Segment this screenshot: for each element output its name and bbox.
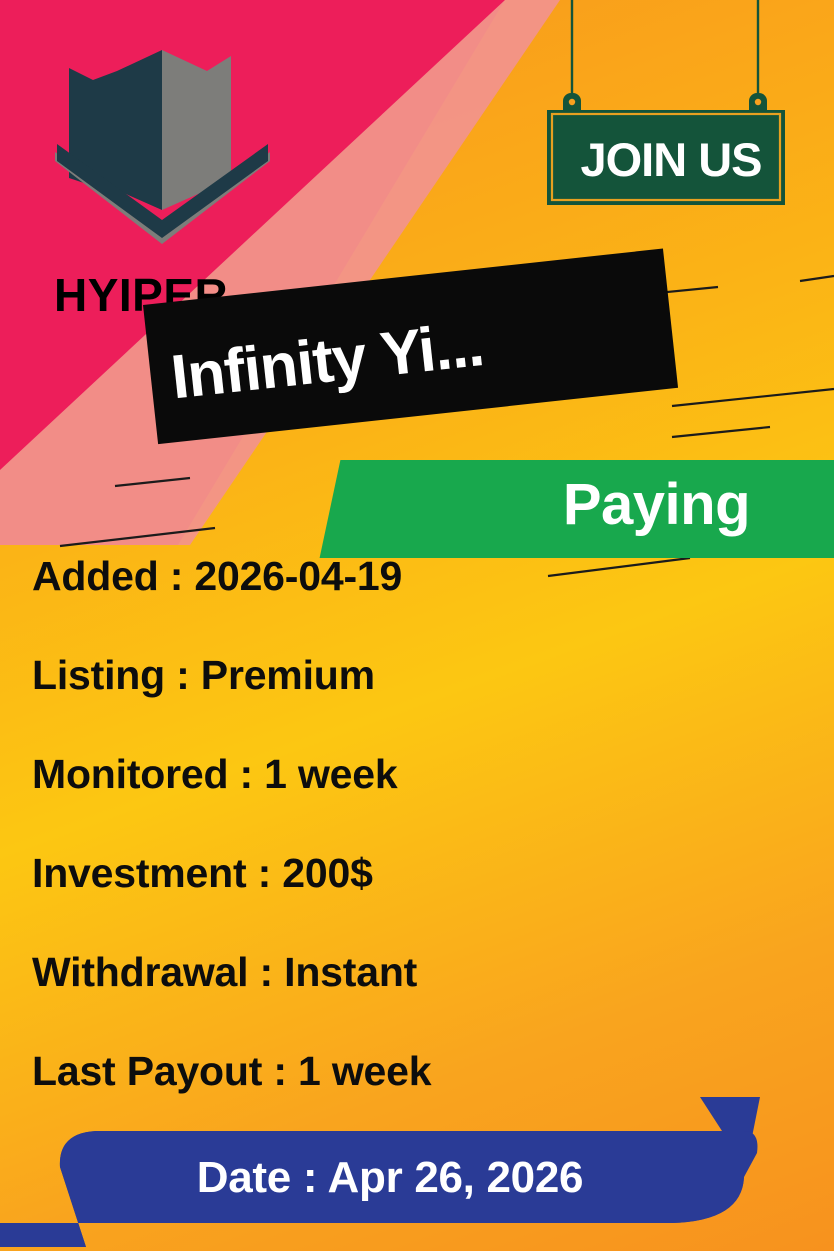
hyip-listing-card: HYIPER JOIN US Infinity Yi... Paying Add… xyxy=(0,0,834,1251)
detail-row-monitored: Monitored : 1 week xyxy=(32,754,732,795)
brand-block: HYIPER xyxy=(0,0,300,330)
detail-row-investment: Investment : 200$ xyxy=(32,853,732,894)
detail-row-last-payout: Last Payout : 1 week xyxy=(32,1051,732,1092)
join-us-label[interactable]: JOIN US xyxy=(546,136,796,183)
buildings-chevron-logo-icon xyxy=(55,28,270,253)
date-label: Date : Apr 26, 2026 xyxy=(70,1153,710,1203)
join-us-sign[interactable] xyxy=(520,0,820,225)
detail-row-withdrawal: Withdrawal : Instant xyxy=(32,952,732,993)
detail-row-added: Added : 2026-04-19 xyxy=(32,556,732,597)
detail-row-listing: Listing : Premium xyxy=(32,655,732,696)
details-list: Added : 2026-04-19 Listing : Premium Mon… xyxy=(32,556,732,1150)
decor-lines-mid xyxy=(672,389,834,437)
status-badge: Paying xyxy=(330,455,750,553)
